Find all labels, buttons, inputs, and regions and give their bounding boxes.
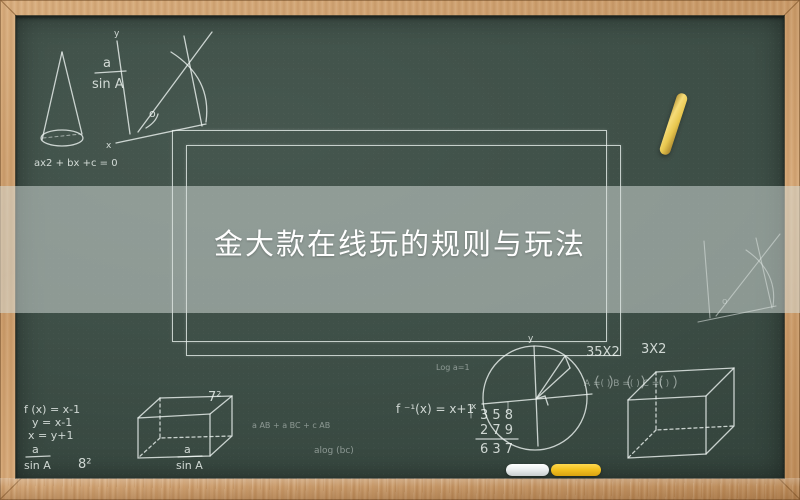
chalk-tray-ledge: [0, 478, 800, 500]
yellow-chalk-tray-icon: [551, 464, 601, 476]
page-title: 金大款在线玩的规则与玩法: [0, 225, 800, 265]
screenshot-root: a sin A y x o ax2 + bx +c =: [0, 0, 800, 500]
white-chalk-icon: [506, 464, 549, 476]
